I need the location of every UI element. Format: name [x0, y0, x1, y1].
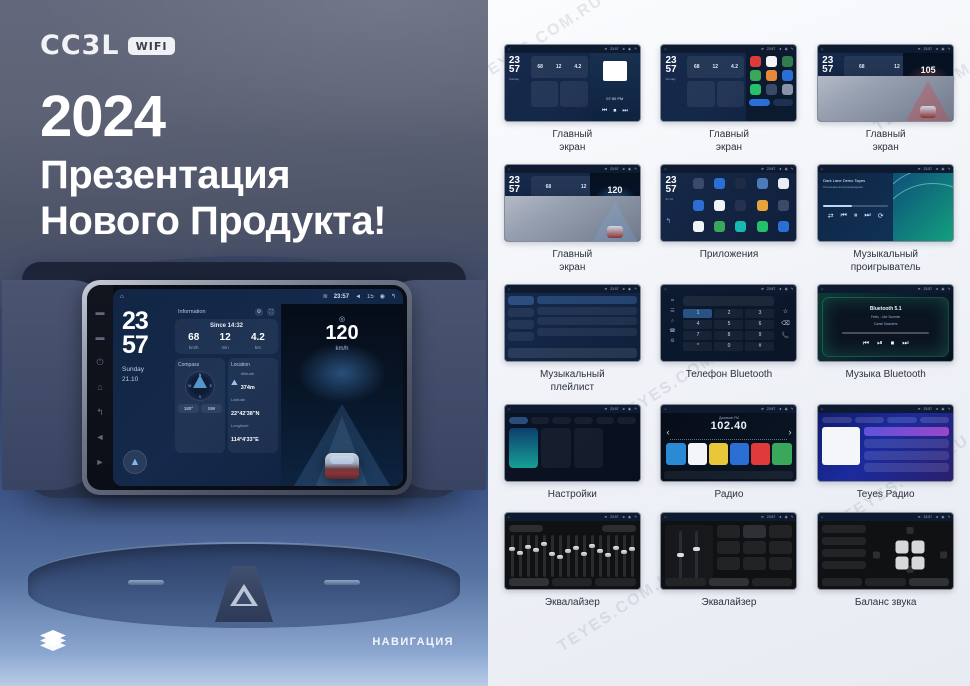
dialpad-key-0[interactable]: 0 — [714, 342, 743, 351]
effect-slider[interactable] — [679, 531, 682, 579]
eq-band[interactable] — [599, 535, 602, 577]
eq-tab-effects[interactable] — [552, 578, 592, 586]
drive-view-red: 105 km/h — [903, 53, 953, 121]
effect-preset[interactable] — [717, 525, 740, 538]
app-icon-more[interactable] — [778, 221, 789, 232]
thumbnail-sound-balance[interactable]: ⌂≋23:57◄◉↰ — [817, 512, 954, 590]
next-icon[interactable]: ⏭ — [864, 212, 870, 220]
settings-tab-sound[interactable] — [531, 417, 550, 424]
car-model-icon — [325, 453, 359, 479]
app-icon[interactable] — [766, 70, 777, 81]
teyes-tab[interactable] — [887, 417, 917, 423]
hero-footer-label: НАВИГАЦИЯ — [372, 636, 454, 648]
clock-minutes: 57 — [122, 334, 175, 358]
information-title: Information — [178, 309, 206, 315]
effect-preset[interactable] — [769, 541, 792, 554]
air-vent-bar — [28, 542, 460, 628]
dialpad-key-7[interactable]: 7 — [683, 331, 712, 340]
app-icon-filemanager[interactable] — [757, 200, 768, 211]
drive-view-widget[interactable]: ◎ 120 km/h — [281, 304, 403, 486]
teyes-tab[interactable] — [855, 417, 885, 423]
eq-tab-eq[interactable] — [509, 578, 549, 586]
layers-icon — [40, 630, 66, 650]
head-unit-side-buttons[interactable]: ▬ ▬ ⏻ ⌂ ↰ ◄ ► — [87, 285, 113, 490]
thumb-clock-min: 57 — [509, 185, 531, 194]
seat-front-right — [912, 540, 925, 553]
thumb-stat: 68 — [694, 64, 700, 70]
track-time: 07:50 PM — [590, 96, 640, 101]
widgets-column: Information ⚙ ⛶ Since 14:32 — [175, 304, 281, 486]
app-icon[interactable] — [750, 84, 761, 95]
trip-stat-unit: min — [220, 345, 231, 350]
eq-tab-eq[interactable] — [665, 578, 705, 586]
compass-title: Compass — [178, 362, 222, 368]
eq-tab-balance[interactable] — [909, 578, 949, 586]
station-list[interactable] — [864, 427, 949, 472]
trip-stat: 4.2 km — [251, 333, 265, 350]
settings-tab-wifi[interactable] — [509, 417, 528, 424]
dialer-sidebar[interactable]: ⌗ ☰ ⌕ ☎ ⚙ — [664, 296, 680, 358]
thumbnail-playlist[interactable]: ⌂≋23:57◄◉↰ — [504, 284, 641, 362]
playlist-tab[interactable] — [508, 332, 534, 341]
compass-widget[interactable]: Compass N S W E — [175, 358, 225, 453]
settings-icon[interactable]: ⚙ — [255, 308, 263, 316]
prev-station-icon[interactable]: ‹ — [666, 427, 669, 437]
eq-band[interactable] — [559, 535, 562, 577]
thumbnail-equalizer-effects[interactable]: ⌂≋23:57◄◉↰ — [660, 512, 797, 590]
app-shortcuts-panel[interactable] — [746, 53, 796, 121]
media-controls[interactable]: ⏮⏹⏭ — [590, 108, 640, 115]
app-icon-calculator[interactable] — [757, 178, 768, 189]
thumb-status-bar: ⌂≋23:57◄◉↰ — [661, 285, 796, 293]
thumb-day: Sunday — [509, 77, 531, 81]
playlist-tab[interactable] — [508, 296, 534, 305]
bt-track-title: Feels - Like Summer — [871, 315, 900, 319]
side-button-home-icon[interactable]: ⌂ — [95, 382, 106, 393]
thumb-stat: 68 — [859, 64, 865, 70]
back-icon[interactable]: ↰ — [665, 217, 689, 225]
back-icon[interactable]: ↰ — [391, 293, 396, 300]
grid-cell[interactable]: ⌂≋23:57◄◉↰ ⌗ ☰ ⌕ ☎ ⚙ 1 — [655, 284, 804, 394]
latitude-value: 22°42'38"N — [231, 411, 259, 417]
thumbnail-caption: Приложения — [700, 249, 759, 262]
phone-number-input[interactable] — [683, 296, 774, 306]
settings-card-more[interactable] — [574, 428, 604, 468]
preset-6[interactable] — [772, 443, 791, 465]
next-icon[interactable]: ⏭ — [902, 340, 908, 348]
media-subtitle: Потоковое воспроизведение — [823, 185, 888, 189]
settings-tab-system[interactable] — [574, 417, 593, 424]
thumbnail-home-apps[interactable]: ⌂≋23:57◄◉↰ 23 57 Sunday 68124.2 — [660, 44, 797, 122]
thumbnail-caption: Эквалайзер — [702, 597, 757, 610]
clock-date: 21.10 — [122, 375, 175, 384]
app-icon-eq[interactable] — [735, 200, 746, 211]
grid-cell[interactable]: ⌂≋23:57◄◉↰ — [498, 512, 647, 610]
car-dashboard-illustration: ▬ ▬ ⏻ ⌂ ↰ ◄ ► ⌂ — [0, 256, 488, 686]
settings-card-wifi[interactable] — [509, 428, 539, 468]
app-icon-chrome[interactable] — [693, 200, 704, 211]
media-controls[interactable]: ⇄ ⏮ ⏸ ⏭ ⟳ — [823, 212, 888, 220]
eq-tab-balance[interactable] — [752, 578, 792, 586]
settings-card-hotspot[interactable] — [541, 428, 571, 468]
effect-sliders[interactable] — [665, 525, 713, 585]
trip-stat: 12 min — [220, 333, 231, 350]
home-icon[interactable]: ⌂ — [120, 294, 124, 300]
grid-cell[interactable]: ⌂≋23:57◄◉↰ 23 57 Sunday 68124.2 105 km/h — [811, 44, 960, 154]
playlist-tab[interactable] — [508, 320, 534, 329]
eq-band[interactable] — [551, 535, 554, 577]
navigation-arrow-icon[interactable]: ▲ — [123, 450, 147, 474]
thumb-clock-min: 57 — [665, 65, 687, 74]
thumbnail-home-drive-red[interactable]: ⌂≋23:57◄◉↰ 23 57 Sunday 68124.2 105 km/h — [817, 44, 954, 122]
thumb-status-bar: ⌂≋23:57◄◉↰ — [661, 405, 796, 413]
radio-bottom-nav[interactable] — [664, 471, 793, 479]
eq-band[interactable] — [631, 535, 634, 577]
eq-band[interactable] — [535, 535, 538, 577]
effect-preset[interactable] — [743, 525, 766, 538]
thumbnail-caption: Музыкальный проигрыватель — [851, 249, 921, 274]
thumbnail-home-drive[interactable]: ⌂≋23:57◄◉↰ 23 57 Sunday 68124.2 ▲ 120 km… — [504, 164, 641, 242]
eq-preset-selector[interactable] — [602, 525, 636, 532]
thumb-status-bar: ⌂≋23:57◄◉↰ — [818, 405, 953, 413]
app-pill[interactable] — [773, 99, 794, 106]
settings-tab-about[interactable] — [617, 417, 636, 424]
equalizer-footer-tabs[interactable] — [822, 578, 949, 586]
settings-cards[interactable] — [509, 428, 636, 468]
balance-left-icon[interactable] — [873, 551, 880, 558]
thumbnail-home-media[interactable]: ⌂≋23:57◄◉↰ 23 57 Sunday 68124.2 07:50 PM… — [504, 44, 641, 122]
grid-cell[interactable]: ⌂≋23:57◄◉↰ 23 57 Sunday 68124.2 ▲ 120 km… — [498, 164, 647, 274]
eq-band[interactable] — [543, 535, 546, 577]
dialpad-key-9[interactable]: 9 — [745, 331, 774, 340]
thumb-status-bar: ⌂≋23:57◄◉↰ — [505, 45, 640, 53]
headline-line1: Презентация — [40, 152, 386, 198]
balance-preset[interactable] — [822, 537, 866, 545]
eq-band[interactable] — [583, 535, 586, 577]
grid-cell[interactable]: ⌂≋23:57◄◉↰ 23 57 Sunday 68124.2 07:50 PM… — [498, 44, 647, 154]
compass-e: E — [210, 384, 212, 388]
contacts-icon[interactable]: ☰ — [670, 308, 674, 314]
next-station-icon[interactable]: › — [788, 427, 791, 437]
screens-grid: ⌂≋23:57◄◉↰ 23 57 Sunday 68124.2 07:50 PM… — [498, 44, 960, 609]
speed-unit: km/h — [335, 346, 348, 352]
repeat-icon[interactable]: ⟳ — [878, 212, 884, 220]
app-icon-google[interactable] — [693, 221, 704, 232]
dialpad[interactable]: 1 2 3 4 5 6 7 8 9 * 0 # — [683, 309, 774, 351]
dialpad-key-star[interactable]: * — [683, 342, 712, 351]
previous-icon[interactable]: ⏮ — [863, 340, 869, 348]
dialpad-key-hash[interactable]: # — [745, 342, 774, 351]
preset-4[interactable] — [730, 443, 749, 465]
drive-glow — [297, 343, 387, 403]
grid-cell[interactable]: ⌂≋23:57◄◉↰ Dark Lane Demo Tapes Потоково… — [811, 164, 960, 274]
side-button-back-icon[interactable]: ↰ — [95, 407, 106, 418]
dialpad-key-5[interactable]: 5 — [714, 320, 743, 329]
thumb-stat: 4.2 — [574, 64, 581, 70]
eq-band[interactable] — [567, 535, 570, 577]
side-button-vol-up-icon[interactable]: ► — [95, 457, 106, 468]
app-icon-maps[interactable] — [714, 221, 725, 232]
effect-preset[interactable] — [743, 541, 766, 554]
eq-preset-label — [509, 525, 543, 532]
side-button-minus-icon[interactable]: ▬ — [95, 307, 106, 318]
balance-stage[interactable] — [871, 525, 949, 585]
side-button-power-icon[interactable]: ⏻ — [95, 357, 106, 368]
balance-right-icon[interactable] — [940, 551, 947, 558]
balance-preset[interactable] — [822, 549, 866, 557]
eq-band[interactable] — [527, 535, 530, 577]
balance-presets[interactable] — [822, 525, 866, 585]
thumbnail-caption: Радио — [715, 489, 744, 502]
app-icon[interactable] — [750, 70, 761, 81]
thumb-status-bar: ⌂≋23:57◄◉↰ — [661, 45, 796, 53]
app-icon[interactable] — [782, 70, 793, 81]
thumbnail-settings[interactable]: ⌂≋23:57◄◉↰ — [504, 404, 641, 482]
effect-presets[interactable] — [717, 525, 792, 585]
favorite-icon[interactable]: ☆ — [783, 308, 788, 315]
grid-cell[interactable]: ⌂≋23:57◄◉↰ Диапазон FM 102.40 ‹ › — [655, 404, 804, 502]
thumb-stat: 12 — [713, 64, 719, 70]
dialpad-key-8[interactable]: 8 — [714, 331, 743, 340]
progress-bar[interactable] — [823, 205, 888, 207]
app-icon[interactable] — [766, 84, 777, 95]
brand-name: CC3L — [40, 30, 120, 61]
thumb-stat: 68 — [537, 64, 543, 70]
bt-media-controls[interactable]: ⏮ ⏯ ⏹ ⏭ — [863, 340, 909, 348]
effect-preset[interactable] — [743, 557, 766, 570]
dialer-actions[interactable]: ☆ ⌫ 📞 — [777, 296, 793, 358]
location-widget[interactable]: Location ⛰ Altitude 374m — [228, 358, 278, 453]
call-icon[interactable]: 📞 — [782, 332, 789, 339]
thumbnail-caption: Телефон Bluetooth — [686, 369, 773, 382]
thumbnail-caption: Баланс звука — [855, 597, 917, 610]
dialpad-icon[interactable]: ⌗ — [671, 298, 674, 304]
hazard-button[interactable] — [215, 566, 273, 622]
thumbnail-bluetooth-music[interactable]: ⌂≋23:57◄◉↰ Bluetooth 5.1 Feels - Like Su… — [817, 284, 954, 362]
search-icon[interactable]: ⌕ — [671, 318, 674, 324]
thumbnail-equalizer[interactable]: ⌂≋23:57◄◉↰ — [504, 512, 641, 590]
thumb-clock-min: 57 — [509, 65, 531, 74]
status-bar: ⌂ ≋ 23:57 ◄ 15 ◉ ↰ — [113, 289, 403, 304]
trip-stat-unit: km — [251, 345, 265, 350]
effect-preset[interactable] — [717, 541, 740, 554]
effect-preset[interactable] — [769, 557, 792, 570]
trip-info-card: Since 14:32 68 km/h 12 — [175, 319, 278, 354]
thumbnail-bluetooth-phone[interactable]: ⌂≋23:57◄◉↰ ⌗ ☰ ⌕ ☎ ⚙ 1 — [660, 284, 797, 362]
eq-tab-effects[interactable] — [709, 578, 749, 586]
side-button-plus-icon[interactable]: ▬ — [95, 332, 106, 343]
altitude-value: 374m — [241, 385, 255, 391]
thumbnail-teyes-radio[interactable]: ⌂≋23:57◄◉↰ — [817, 404, 954, 482]
eq-tab-eq[interactable] — [822, 578, 862, 586]
previous-icon[interactable]: ⏮ — [841, 212, 847, 220]
thumb-status-bar: ⌂≋23:57◄◉↰ — [818, 45, 953, 53]
balance-preset[interactable] — [822, 561, 866, 569]
station-row[interactable] — [864, 439, 949, 448]
clock-day: Sunday — [122, 365, 175, 374]
compass-n: N — [199, 373, 202, 377]
settings-tab-display[interactable] — [552, 417, 571, 424]
playlist-row[interactable] — [537, 328, 637, 336]
app-icon[interactable] — [766, 56, 777, 67]
thumb-status-bar: ⌂≋23:57◄◉↰ — [505, 285, 640, 293]
trip-since: Since 14:32 — [178, 323, 275, 329]
dialpad-key-2[interactable]: 2 — [714, 309, 743, 318]
app-icon[interactable] — [750, 56, 761, 67]
app-icon[interactable] — [782, 84, 793, 95]
settings-tabs[interactable] — [509, 417, 636, 424]
station-row[interactable] — [864, 451, 949, 460]
radio-presets[interactable] — [666, 443, 791, 465]
grid-cell[interactable]: ⌂≋23:57◄◉↰ — [655, 512, 804, 610]
eq-band[interactable] — [615, 535, 618, 577]
app-icon-camera[interactable] — [778, 178, 789, 189]
compass-dial: N S W E — [185, 371, 215, 401]
thumbnail-caption: Главный экран — [709, 129, 749, 154]
thumbnail-caption: Настройки — [548, 489, 597, 502]
playlist-tab[interactable] — [508, 308, 534, 317]
teyes-tab[interactable] — [822, 417, 852, 423]
preset-2[interactable] — [688, 443, 707, 465]
effect-slider[interactable] — [695, 531, 698, 579]
thumbnail-caption: Эквалайзер — [545, 597, 600, 610]
seat-front-left — [896, 540, 909, 553]
eq-tab-effects[interactable] — [865, 578, 905, 586]
grid-cell[interactable]: ⌂≋23:57◄◉↰ 23 57 21.10 ↰ — [655, 164, 804, 274]
seat-rear-left — [896, 556, 909, 569]
speed-value: 120 — [325, 323, 358, 343]
thumb-clock-min: 57 — [822, 65, 844, 74]
thumbnail-radio[interactable]: ⌂≋23:57◄◉↰ Диапазон FM 102.40 ‹ › — [660, 404, 797, 482]
eq-band[interactable] — [575, 535, 578, 577]
apps-day: 21.10 — [665, 197, 689, 201]
dialpad-key-4[interactable]: 4 — [683, 320, 712, 329]
thumbnail-apps[interactable]: ⌂≋23:57◄◉↰ 23 57 21.10 ↰ — [660, 164, 797, 242]
equalizer-footer-tabs[interactable] — [665, 578, 792, 586]
compass-s: S — [199, 395, 201, 399]
equalizer-footer-tabs[interactable] — [509, 578, 636, 586]
app-icon-fm[interactable] — [693, 178, 704, 189]
eq-band[interactable] — [519, 535, 522, 577]
eq-band[interactable] — [607, 535, 610, 577]
grid-cell[interactable]: ⌂≋23:57◄◉↰ — [498, 284, 647, 394]
trip-stat-value: 4.2 — [251, 333, 265, 343]
app-icon-musicplayer[interactable] — [735, 221, 746, 232]
shuffle-icon[interactable]: ⇄ — [828, 212, 834, 220]
bt-track-artist: Camel Saunders — [874, 322, 898, 326]
app-pill[interactable] — [749, 99, 770, 106]
station-row[interactable] — [864, 463, 949, 472]
equalizer-sliders[interactable] — [509, 535, 636, 577]
bt-progress-bar[interactable] — [842, 332, 930, 334]
side-button-vol-down-icon[interactable]: ◄ — [95, 432, 106, 443]
eq-band[interactable] — [511, 535, 514, 577]
thumbnail-caption: Главный экран — [552, 249, 592, 274]
status-time: 23:57 — [334, 294, 349, 300]
volume-level: 15 — [367, 294, 374, 300]
balance-up-icon[interactable] — [907, 527, 914, 534]
grid-cell[interactable]: ⌂≋23:57◄◉↰ Bluetooth 5.1 Feels - Like Su… — [811, 284, 960, 394]
camera-icon[interactable]: ◉ — [380, 293, 385, 300]
dialpad-key-6[interactable]: 6 — [745, 320, 774, 329]
latitude-label: Latitude — [231, 397, 275, 402]
media-title: Dark Lane Demo Tapes — [823, 178, 888, 183]
grid-cell[interactable]: ⌂≋23:57◄◉↰ — [811, 404, 960, 502]
settings-icon[interactable]: ⚙ — [670, 338, 674, 344]
effect-preset[interactable] — [769, 525, 792, 538]
seat-map — [896, 540, 925, 569]
head-unit-screen[interactable]: ⌂ ≋ 23:57 ◄ 15 ◉ ↰ — [113, 289, 403, 486]
now-playing-bar[interactable] — [508, 348, 637, 358]
thumbnail-music-player[interactable]: ⌂≋23:57◄◉↰ Dark Lane Demo Tapes Потоково… — [817, 164, 954, 242]
volume-icon: ◄ — [355, 294, 361, 300]
playpause-icon[interactable]: ⏯ — [877, 340, 883, 348]
compass-direction: SW — [201, 404, 222, 413]
thumb-status-bar: ⌂≋23:57◄◉↰ — [505, 165, 640, 173]
dashboard-hood: ▬ ▬ ⏻ ⌂ ↰ ◄ ► ⌂ — [22, 262, 466, 498]
grid-cell[interactable]: ⌂≋23:57◄◉↰ — [498, 404, 647, 502]
trip-stat-value: 12 — [220, 333, 231, 343]
preset-5[interactable] — [751, 443, 770, 465]
dialpad-key-3[interactable]: 3 — [745, 309, 774, 318]
app-icon-btmusic[interactable] — [735, 178, 746, 189]
hero-panel: TEYES.COM.RU TEYES.COM.RU CC3L WIFI 2024… — [0, 0, 488, 686]
page-title: 2024 Презентация Нового Продукта! — [40, 88, 386, 245]
playlist-row[interactable] — [537, 317, 637, 325]
app-icon[interactable] — [782, 56, 793, 67]
pause-icon[interactable]: ⏸ — [854, 212, 858, 220]
call-history-icon[interactable]: ☎ — [669, 328, 675, 334]
teyes-tab[interactable] — [920, 417, 950, 423]
compass-w: W — [188, 384, 191, 388]
effect-preset[interactable] — [717, 557, 740, 570]
vent-slot-right — [324, 580, 360, 585]
product-logo: CC3L WIFI — [40, 30, 175, 61]
app-icon-gallery[interactable] — [778, 200, 789, 211]
altitude-label: Altitude — [241, 371, 255, 376]
thumb-stat: 4.2 — [731, 64, 738, 70]
thumb-speed: 105 — [921, 65, 936, 75]
bluetooth-version: Bluetooth 5.1 — [870, 306, 902, 312]
wifi-badge: WIFI — [128, 37, 176, 55]
backspace-icon[interactable]: ⌫ — [781, 320, 789, 327]
preset-1[interactable] — [666, 443, 685, 465]
settings-tab-apps[interactable] — [596, 417, 615, 424]
playlist-row[interactable] — [537, 307, 637, 315]
dialpad-key-1[interactable]: 1 — [683, 309, 712, 318]
eq-band[interactable] — [623, 535, 626, 577]
app-icon-bluetooth[interactable] — [714, 178, 725, 189]
grid-cell[interactable]: ⌂≋23:57◄◉↰ 23 57 Sunday 68124.2 — [655, 44, 804, 154]
longitude-value: 114°4'33"E — [231, 437, 259, 443]
balance-preset[interactable] — [822, 525, 866, 533]
stop-icon[interactable]: ⏹ — [891, 340, 895, 348]
grid-cell[interactable]: ⌂≋23:57◄◉↰ — [811, 512, 960, 610]
thumbnail-caption: Музыкальный плейлист — [540, 369, 605, 394]
app-icon-clock[interactable] — [714, 200, 725, 211]
eq-band[interactable] — [591, 535, 594, 577]
teyes-radio-tabs[interactable] — [822, 417, 949, 423]
media-visualizer — [893, 173, 953, 241]
thumbnail-caption: Главный экран — [552, 129, 592, 154]
expand-icon[interactable]: ⛶ — [267, 308, 275, 316]
app-icon-playstore[interactable] — [757, 221, 768, 232]
playlist-row[interactable] — [537, 296, 637, 304]
eq-tab-balance[interactable] — [595, 578, 635, 586]
preset-3[interactable] — [709, 443, 728, 465]
thumb-status-bar: ⌂≋23:57◄◉↰ — [661, 513, 796, 521]
station-row[interactable] — [864, 427, 949, 436]
